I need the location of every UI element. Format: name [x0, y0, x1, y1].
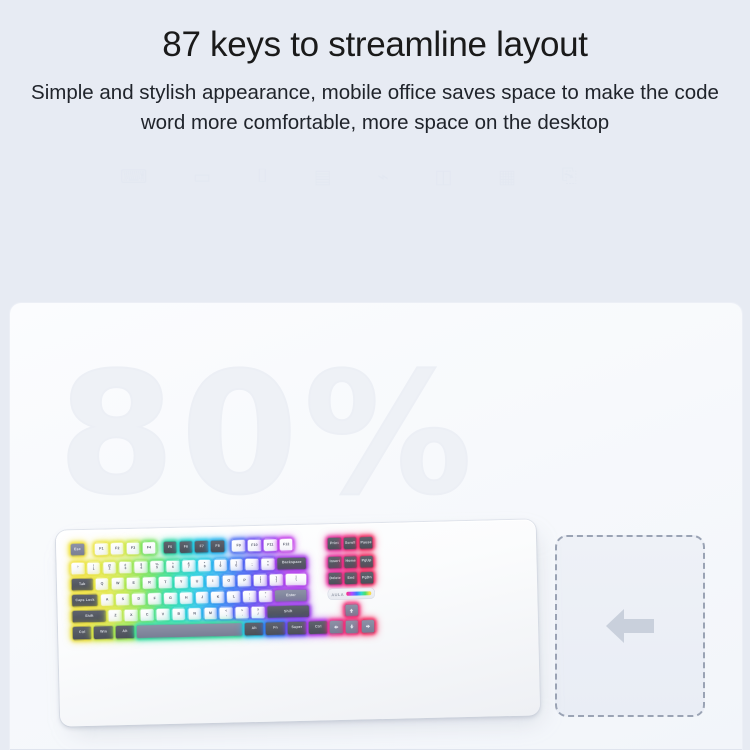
key-legend-bottom: . — [242, 613, 243, 617]
key-legend: Backspace — [282, 561, 302, 565]
key-legend: F12 — [283, 543, 290, 547]
key-7[interactable]: &7 — [181, 559, 196, 573]
key-u[interactable]: U — [190, 575, 205, 589]
key-tab[interactable]: Tab — [71, 578, 94, 592]
key-legend-bottom: ' — [265, 596, 266, 600]
key-legend: A — [106, 598, 109, 602]
key-legend: Alt — [122, 630, 127, 634]
key-legend: Q — [101, 582, 104, 586]
key-legend-stack: )0 — [235, 561, 237, 568]
arrow-up-icon — [349, 607, 355, 613]
key-5[interactable]: %5 — [150, 560, 165, 574]
key-fn[interactable]: Fn — [265, 622, 285, 636]
key-legend: F6 — [184, 545, 188, 549]
key-right[interactable] — [361, 620, 376, 634]
key-legend-stack: !1 — [93, 564, 95, 571]
key-x[interactable]: X — [124, 609, 139, 623]
key-blank[interactable]: += — [261, 557, 276, 571]
key-legend: O — [227, 579, 230, 583]
key-legend: U — [196, 580, 199, 584]
page-title: 87 keys to streamline layout — [0, 24, 750, 66]
key-legend-bottom: , — [226, 613, 227, 617]
key-f12[interactable]: F12 — [279, 538, 294, 552]
key-r[interactable]: R — [142, 576, 157, 590]
key-0[interactable]: )0 — [229, 558, 244, 572]
key-ctrl[interactable]: Ctrl — [308, 621, 328, 635]
key-legend: R — [148, 581, 151, 585]
key-legend: D — [137, 597, 140, 601]
key-legend: Print — [330, 542, 339, 546]
key-legend: Tab — [79, 582, 86, 586]
key-blank[interactable]: "' — [258, 590, 273, 604]
key-blank[interactable]: ?/ — [251, 606, 266, 620]
key-legend-stack: _- — [251, 561, 253, 568]
key-legend-stack: ~` — [77, 565, 79, 572]
key-p[interactable]: P — [237, 574, 252, 588]
key-legend: Insert — [330, 560, 340, 564]
key-legend: F3 — [131, 547, 135, 551]
key-legend: E — [132, 581, 135, 585]
key-w[interactable]: W — [110, 577, 125, 591]
key-legend-bottom: [ — [260, 580, 261, 584]
product-showcase-panel: 80% EscF1F2F3F4F5F6F7F8F9F10F11F12PrintS… — [10, 303, 742, 750]
key-legend: F5 — [168, 546, 172, 550]
arrow-down-icon — [349, 624, 355, 630]
arrow-right-icon — [365, 623, 371, 629]
background-ghost-glyphs: ⌨▭⌷▤⌁◫▦⎘ — [120, 162, 580, 192]
key-legend-bottom: 4 — [140, 567, 142, 571]
key-legend-stack: &7 — [187, 562, 190, 569]
key-legend: Caps Lock — [75, 598, 94, 602]
key-legend-stack: += — [267, 560, 269, 567]
key-legend: V — [162, 613, 165, 617]
key-legend: Esc — [74, 548, 81, 552]
key-f2[interactable]: F2 — [110, 542, 125, 556]
key-legend: Delete — [329, 576, 340, 580]
key-legend-bottom: ` — [77, 568, 78, 572]
page-subtitle: Simple and stylish appearance, mobile of… — [0, 78, 750, 138]
key-legend: F10 — [251, 544, 258, 548]
key-legend-bottom: \ — [296, 579, 297, 583]
key-f8[interactable]: F8 — [210, 540, 225, 554]
key-legend: PgDn — [362, 576, 372, 580]
key-legend-stack: (9 — [219, 561, 221, 568]
key-3[interactable]: #3 — [118, 560, 133, 574]
key-blank[interactable]: :; — [242, 590, 257, 604]
key-blank[interactable]: }] — [269, 573, 284, 587]
key-legend: End — [347, 576, 354, 580]
key-f9[interactable]: F9 — [231, 539, 246, 553]
key-legend: Win — [100, 631, 107, 635]
key-f3[interactable]: F3 — [126, 542, 141, 556]
key-legend: F — [154, 597, 156, 601]
saved-space-box — [555, 535, 705, 717]
key-down[interactable] — [345, 620, 360, 634]
key-legend-bottom: = — [267, 564, 269, 568]
key-f7[interactable]: F7 — [194, 540, 209, 554]
key-f1[interactable]: F1 — [94, 542, 109, 556]
key-legend: F2 — [115, 547, 119, 551]
key-y[interactable]: Y — [174, 575, 189, 589]
key-legend: F9 — [236, 544, 240, 548]
key-legend: M — [209, 612, 212, 616]
key-legend: Alt — [252, 627, 257, 631]
key-legend-bottom: 7 — [188, 566, 190, 570]
key-o[interactable]: O — [221, 574, 236, 588]
key-legend: B — [177, 613, 180, 617]
key-legend-bottom: ; — [249, 597, 250, 601]
key-win[interactable]: Win — [93, 626, 113, 640]
key-legend: J — [201, 596, 203, 600]
key-pause[interactable]: Pause — [359, 536, 374, 550]
key-legend: F7 — [200, 545, 204, 549]
key-legend-stack: {[ — [260, 577, 262, 584]
key-legend-bottom: - — [252, 564, 253, 568]
key-legend: T — [164, 581, 166, 585]
key-e[interactable]: E — [126, 576, 141, 590]
key-legend: F1 — [99, 547, 103, 551]
key-f6[interactable]: F6 — [178, 540, 193, 554]
key-legend: PgUp — [362, 560, 372, 564]
key-legend-stack: $4 — [140, 563, 142, 570]
key-legend: Ctrl — [79, 631, 86, 635]
key-blank[interactable]: >. — [235, 606, 250, 620]
rgb-indicator-bar: AULA — [328, 588, 375, 599]
rgb-gradient-swatch — [346, 592, 372, 596]
key-legend: S — [122, 598, 125, 602]
key-ctrl[interactable]: Ctrl — [72, 626, 92, 640]
key-blank[interactable]: ~` — [70, 562, 85, 576]
key-legend-stack: <, — [225, 610, 227, 617]
key-6[interactable]: ^6 — [166, 559, 181, 573]
key-legend: P — [243, 579, 246, 583]
key-legend-stack: }] — [276, 576, 278, 583]
key-f5[interactable]: F5 — [163, 541, 178, 555]
key-legend: F4 — [147, 546, 151, 550]
key-legend: Z — [114, 614, 116, 618]
key-legend-stack: @2 — [108, 564, 112, 571]
key-insert[interactable]: Insert — [327, 556, 342, 570]
key-backspace[interactable]: Backspace — [276, 556, 307, 570]
key-pgdn[interactable]: PgDn — [359, 571, 374, 585]
key-legend-bottom: 2 — [109, 568, 111, 572]
key-super[interactable]: Super — [287, 621, 307, 635]
key-legend: L — [233, 595, 235, 599]
key-print[interactable]: Print — [327, 537, 342, 551]
key-q[interactable]: Q — [95, 577, 110, 591]
key-home[interactable]: Home — [343, 555, 358, 569]
key-z[interactable]: Z — [108, 609, 123, 623]
key-legend: Shift — [284, 610, 293, 614]
key-legend: F11 — [267, 543, 273, 547]
key-l[interactable]: L — [226, 590, 241, 604]
key-legend: H — [185, 596, 188, 600]
key-legend-bottom: 5 — [156, 566, 158, 570]
key-shift[interactable]: Shift — [266, 605, 309, 619]
key-8[interactable]: *8 — [197, 559, 212, 573]
key-left[interactable] — [329, 620, 344, 634]
key-f10[interactable]: F10 — [247, 539, 262, 553]
key-blank[interactable]: {[ — [253, 573, 268, 587]
key-legend-stack: >. — [241, 610, 243, 617]
key-legend-bottom: 9 — [220, 565, 222, 569]
key-v[interactable]: V — [156, 608, 171, 622]
key-legend-stack: ^6 — [172, 563, 174, 570]
key-legend-stack: "' — [265, 593, 267, 600]
key-legend: W — [116, 582, 120, 586]
key-alt[interactable]: Alt — [115, 625, 135, 639]
key-a[interactable]: A — [100, 593, 115, 607]
key-delete[interactable]: Delete — [328, 572, 343, 586]
key-b[interactable]: B — [171, 608, 186, 622]
key-legend: Scroll — [345, 541, 356, 545]
key-1[interactable]: !1 — [86, 561, 101, 575]
key-legend: F8 — [215, 545, 219, 549]
key-legend-bottom: 3 — [124, 567, 126, 571]
key-enter[interactable]: Enter — [274, 589, 308, 603]
key-legend: N — [193, 612, 196, 616]
key-h[interactable]: H — [179, 591, 194, 605]
key-legend-stack: *8 — [204, 562, 206, 569]
key-alt[interactable]: Alt — [244, 622, 264, 636]
key-t[interactable]: T — [158, 576, 173, 590]
key-end[interactable]: End — [344, 571, 359, 585]
key-legend: G — [169, 597, 172, 601]
brand-logo: AULA — [331, 592, 344, 597]
key-legend: K — [217, 596, 220, 600]
key-legend-bottom: 6 — [172, 566, 174, 570]
key-legend-bottom: 1 — [93, 568, 95, 572]
key-legend: Y — [180, 580, 183, 584]
key-i[interactable]: I — [206, 575, 221, 589]
key-legend: C — [146, 613, 149, 617]
key-legend-stack: |\ — [296, 576, 297, 583]
key-esc[interactable]: Esc — [70, 543, 85, 557]
keyboard-key-grid: EscF1F2F3F4F5F6F7F8F9F10F11F12PrintScrol… — [70, 533, 529, 715]
key-g[interactable]: G — [163, 592, 178, 606]
key-legend: I — [212, 579, 213, 583]
key-pgup[interactable]: PgUp — [359, 555, 374, 569]
key-legend-bottom: 0 — [235, 565, 237, 569]
key-shift[interactable]: Shift — [72, 610, 108, 624]
key-d[interactable]: D — [131, 593, 146, 607]
key-space-bar[interactable] — [136, 623, 243, 639]
key-legend-bottom: / — [258, 613, 259, 617]
key-legend: Super — [292, 626, 303, 630]
key-legend-stack: #3 — [124, 564, 126, 571]
key-f[interactable]: F — [147, 592, 162, 606]
key-c[interactable]: C — [140, 609, 155, 623]
key-f4[interactable]: F4 — [142, 541, 157, 555]
key-blank[interactable]: <, — [219, 607, 234, 621]
key-legend: Enter — [286, 594, 296, 598]
key-legend-stack: ?/ — [257, 609, 259, 616]
arrow-left-icon — [333, 624, 339, 630]
key-up[interactable] — [344, 604, 359, 618]
key-4[interactable]: $4 — [134, 560, 149, 574]
key-legend: X — [130, 614, 133, 618]
key-legend: Pause — [360, 541, 371, 545]
key-scroll[interactable]: Scroll — [343, 537, 358, 551]
header-section: 87 keys to streamline layout Simple and … — [0, 0, 750, 300]
key-legend-stack: :; — [249, 593, 250, 600]
key-m[interactable]: M — [203, 607, 218, 621]
key-blank[interactable]: |\ — [285, 573, 308, 587]
keyboard-product-image: EscF1F2F3F4F5F6F7F8F9F10F11F12PrintScrol… — [56, 519, 541, 730]
key-2[interactable]: @2 — [102, 561, 117, 575]
key-legend-bottom: ] — [276, 580, 277, 584]
key-legend: Shift — [85, 615, 94, 619]
key-k[interactable]: K — [211, 591, 226, 605]
keyboard-case: EscF1F2F3F4F5F6F7F8F9F10F11F12PrintScrol… — [56, 519, 540, 726]
key-legend: Ctrl — [315, 626, 322, 630]
arrow-left-icon — [602, 603, 658, 649]
key-caps-lock[interactable]: Caps Lock — [71, 594, 99, 608]
key-s[interactable]: S — [116, 593, 131, 607]
key-9[interactable]: (9 — [213, 558, 228, 572]
key-n[interactable]: N — [187, 607, 202, 621]
key-blank[interactable]: _- — [245, 557, 260, 571]
key-f11[interactable]: F11 — [263, 538, 278, 552]
key-legend-stack: %5 — [155, 563, 158, 570]
key-legend-bottom: 8 — [204, 565, 206, 569]
key-legend: Home — [345, 560, 355, 564]
watermark-80-percent: 80% — [58, 359, 478, 509]
key-legend: Fn — [273, 627, 278, 631]
key-j[interactable]: J — [195, 591, 210, 605]
